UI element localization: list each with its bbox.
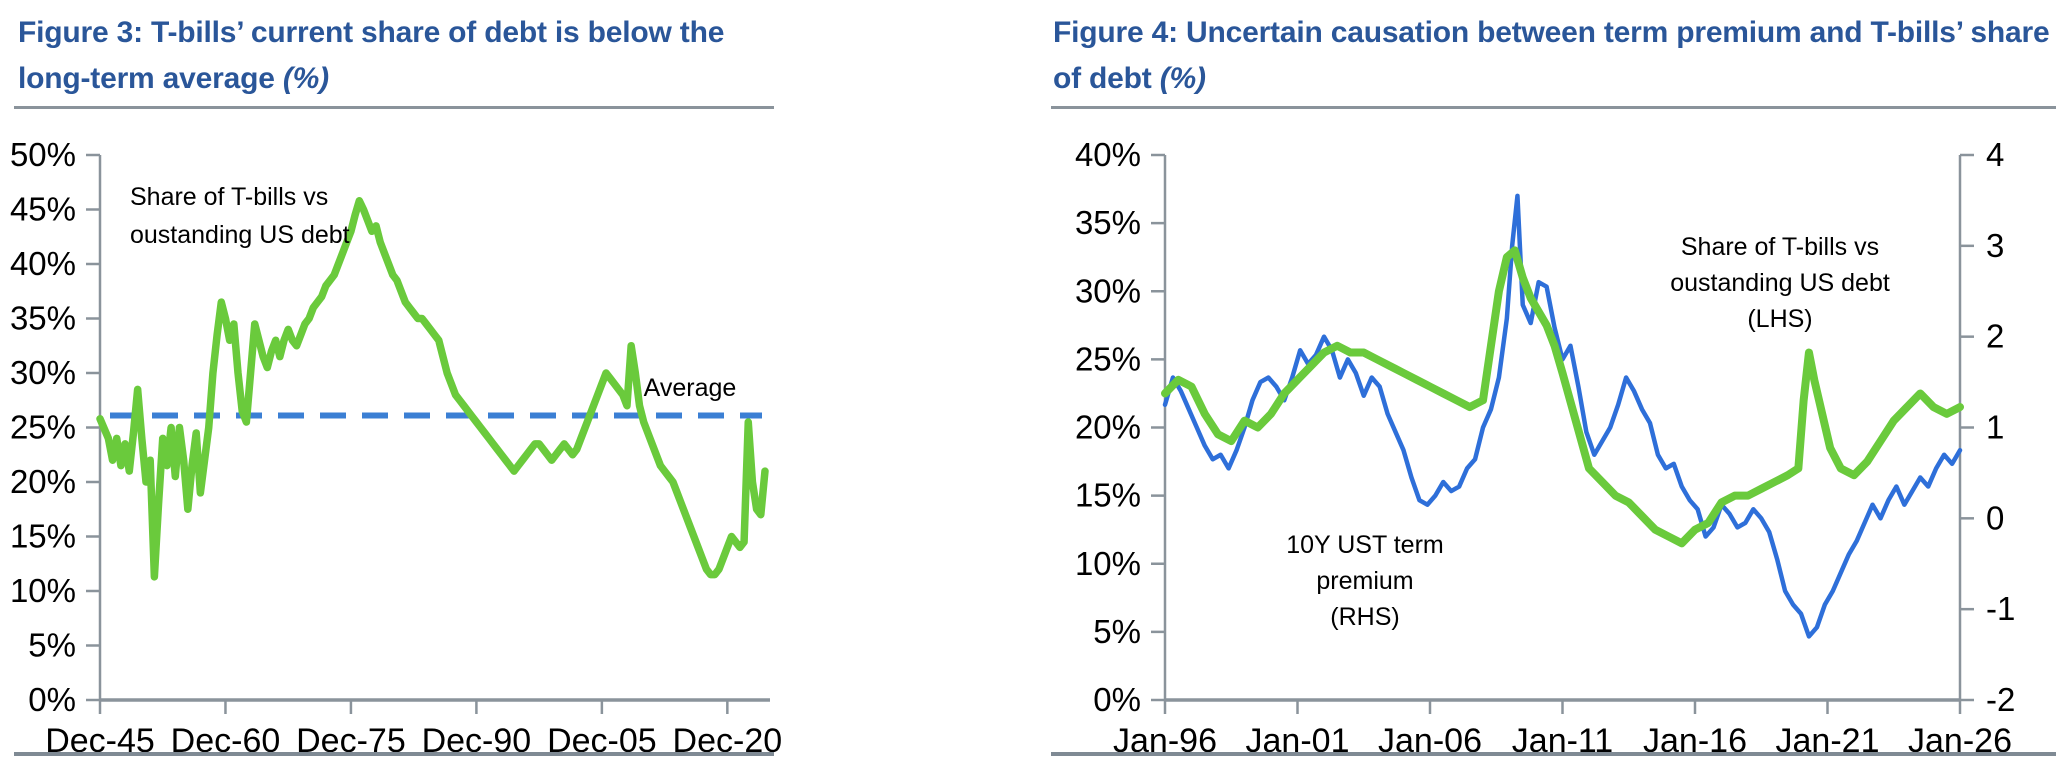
- fig3-y-tick-label: 20%: [10, 463, 76, 500]
- fig4-y-right-tick-label: 0: [1986, 499, 2004, 536]
- fig3-y-tick-group: 0%5%10%15%20%25%30%35%40%45%50%: [10, 136, 100, 718]
- series-label-term-premium-rhs: 10Y UST term premium (RHS): [1286, 531, 1443, 631]
- fig4-ann-rhs-2: premium: [1316, 567, 1413, 595]
- fig3-y-tick-label: 0%: [28, 681, 76, 718]
- figure-4-bottom-rule: [1051, 752, 2056, 756]
- fig3-ann-line-1: Share of T-bills vs: [130, 183, 328, 211]
- fig4-ann-lhs-3: (LHS): [1747, 305, 1812, 333]
- figure-3-chart: 0%5%10%15%20%25%30%35%40%45%50% Dec-45De…: [0, 0, 1035, 767]
- fig4-series-group: [1165, 196, 1960, 637]
- fig4-y-tick-right-group: -2-101234: [1960, 136, 2015, 718]
- fig3-y-tick-label: 40%: [10, 245, 76, 282]
- fig4-y-left-tick-label: 20%: [1075, 409, 1141, 446]
- series-label-tbills-share-lhs: Share of T-bills vs oustanding US debt (…: [1670, 233, 1890, 333]
- fig3-y-tick-label: 10%: [10, 572, 76, 609]
- fig4-y-tick-left-group: 0%5%10%15%20%25%30%35%40%: [1075, 136, 1165, 718]
- fig4-y-left-tick-label: 15%: [1075, 477, 1141, 514]
- figure-3-panel: Figure 3: T-bills’ current share of debt…: [0, 0, 1035, 767]
- fig3-y-tick-label: 15%: [10, 518, 76, 555]
- fig4-ann-lhs-2: oustanding US debt: [1670, 269, 1890, 297]
- fig4-y-left-tick-label: 0%: [1093, 681, 1141, 718]
- fig4-y-right-tick-label: 2: [1986, 318, 2004, 355]
- series-label-tbills-share: Share of T-bills vs oustanding US debt: [130, 183, 350, 249]
- fig3-y-tick-label: 5%: [28, 627, 76, 664]
- figure-3-bottom-rule: [14, 752, 774, 756]
- average-line-label: Average: [644, 374, 737, 402]
- fig3-average-label: Average: [644, 374, 737, 402]
- fig4-y-left-tick-label: 25%: [1075, 340, 1141, 377]
- fig4-line-term-premium: [1165, 196, 1960, 637]
- figures-page: Figure 3: T-bills’ current share of debt…: [0, 0, 2071, 767]
- fig4-y-right-tick-label: -1: [1986, 590, 2015, 627]
- fig4-y-left-tick-label: 30%: [1075, 272, 1141, 309]
- fig3-ann-line-2: oustanding US debt: [130, 221, 350, 249]
- fig4-ann-lhs-1: Share of T-bills vs: [1681, 233, 1879, 261]
- fig4-ann-rhs-3: (RHS): [1330, 603, 1399, 631]
- fig4-y-left-tick-label: 5%: [1093, 613, 1141, 650]
- fig4-y-right-tick-label: -2: [1986, 681, 2015, 718]
- fig4-y-left-tick-label: 10%: [1075, 545, 1141, 582]
- fig3-y-tick-label: 35%: [10, 300, 76, 337]
- fig4-x-tick-group: Jan-96Jan-01Jan-06Jan-11Jan-16Jan-21Jan-…: [1113, 700, 2012, 760]
- figure-4-panel: Figure 4: Uncertain causation between te…: [1035, 0, 2071, 767]
- fig3-y-tick-label: 45%: [10, 191, 76, 228]
- fig3-y-tick-label: 30%: [10, 354, 76, 391]
- figure-4-chart: 0%5%10%15%20%25%30%35%40% -2-101234 Jan-…: [1035, 0, 2071, 767]
- fig4-y-right-tick-label: 1: [1986, 409, 2004, 446]
- fig3-x-tick-group: Dec-45Dec-60Dec-75Dec-90Dec-05Dec-20: [45, 700, 782, 760]
- fig4-y-left-tick-label: 40%: [1075, 136, 1141, 173]
- fig3-y-tick-label: 50%: [10, 136, 76, 173]
- fig4-y-right-tick-label: 3: [1986, 227, 2004, 264]
- fig4-ann-rhs-1: 10Y UST term: [1286, 531, 1443, 559]
- fig4-y-left-tick-label: 35%: [1075, 204, 1141, 241]
- fig4-y-right-tick-label: 4: [1986, 136, 2004, 173]
- fig3-y-tick-label: 25%: [10, 409, 76, 446]
